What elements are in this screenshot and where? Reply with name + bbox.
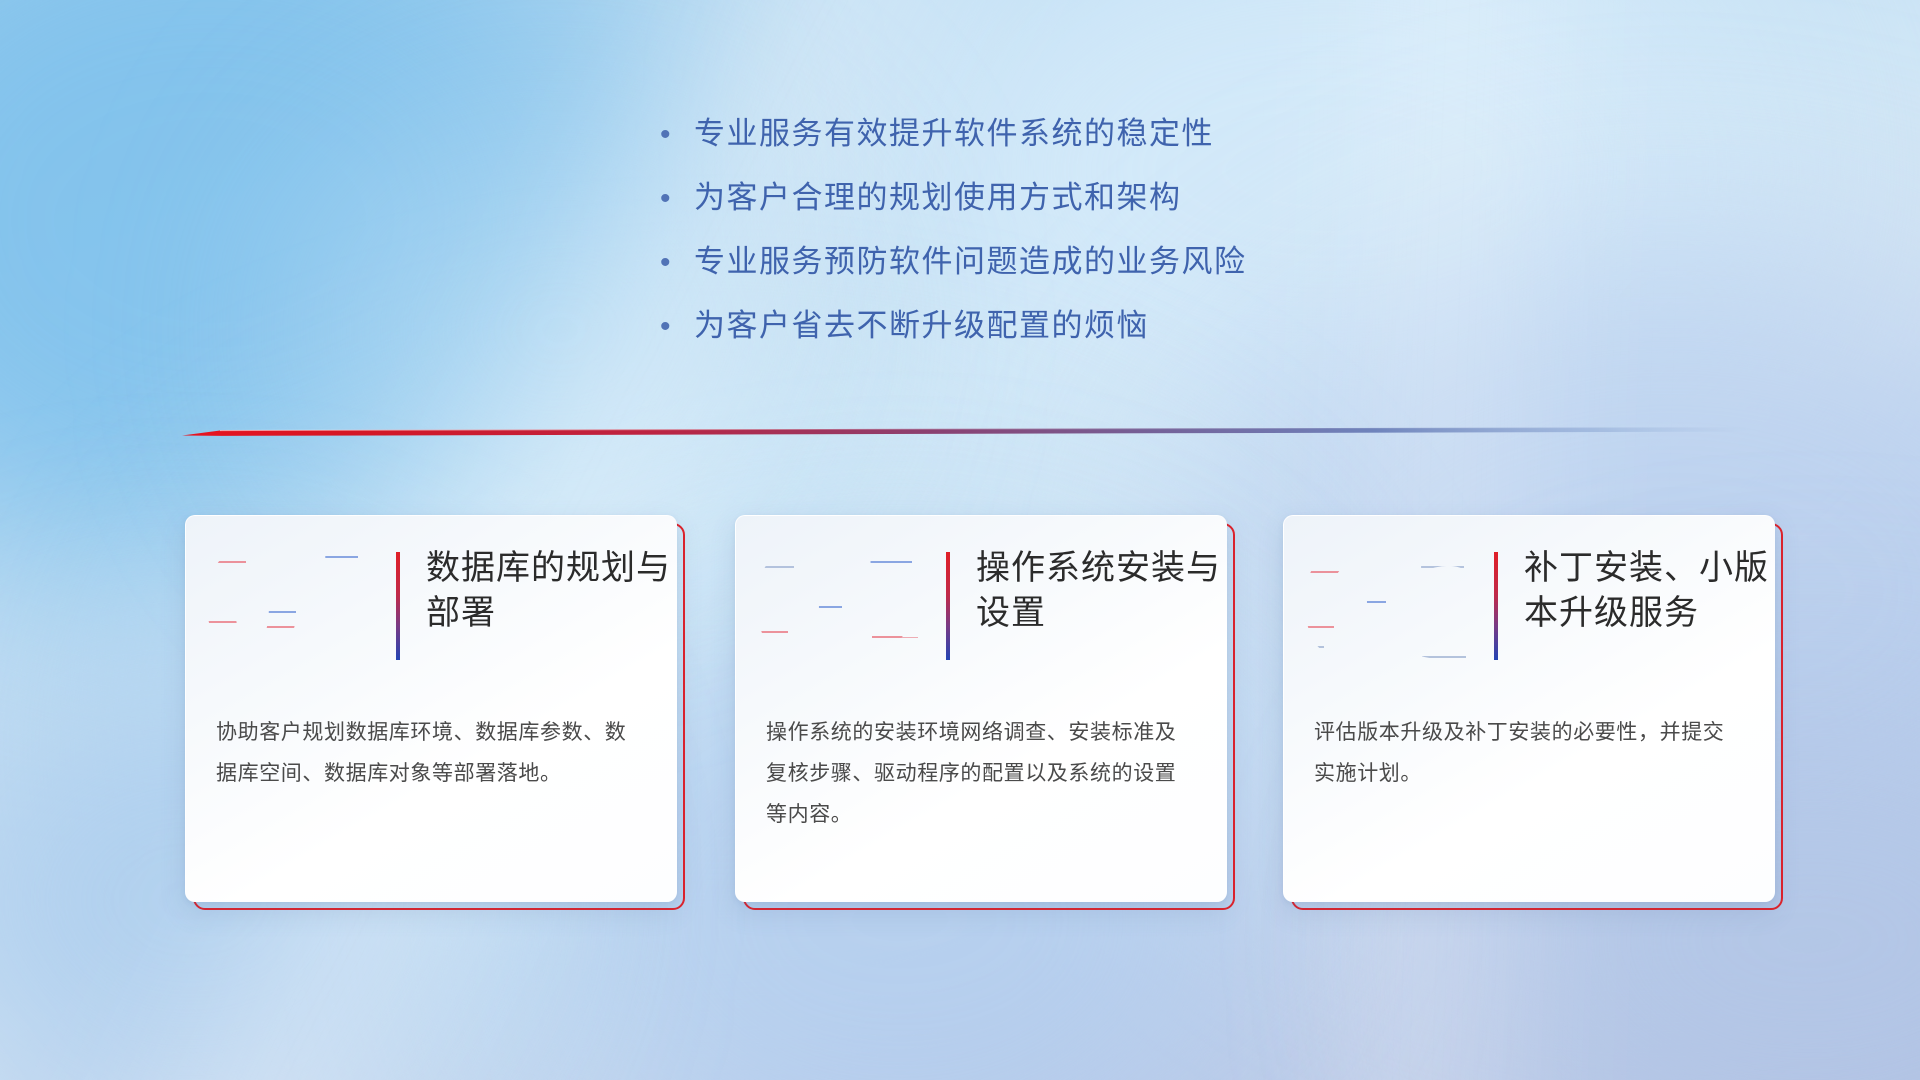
bullet-dot-icon: • xyxy=(660,312,694,342)
service-card[interactable]: 01 xyxy=(185,515,685,910)
list-item: • 专业服务预防软件问题造成的业务风险 xyxy=(660,236,1247,300)
card-surface: 01 xyxy=(185,515,677,902)
card-accent-rule xyxy=(396,552,400,660)
bullet-dot-icon: • xyxy=(660,120,694,150)
bullet-text: 专业服务有效提升软件系统的稳定性 xyxy=(694,108,1214,153)
service-card[interactable]: 03 xyxy=(1283,515,1783,910)
card-number-ghost-01: 01 xyxy=(200,538,410,688)
service-card-group: 01 xyxy=(0,515,1920,935)
service-card[interactable]: 02 xyxy=(735,515,1235,910)
section-divider xyxy=(182,424,1752,442)
card-title: 操作系统安装与设置 xyxy=(976,546,1226,636)
card-surface: 02 xyxy=(735,515,1227,902)
card-header: 数据库的规划与部署 xyxy=(396,546,676,660)
card-header: 补丁安装、小版本升级服务 xyxy=(1494,546,1774,660)
bullet-dot-icon: • xyxy=(660,248,694,278)
card-surface: 03 xyxy=(1283,515,1775,902)
list-item: • 为客户省去不断升级配置的烦恼 xyxy=(660,300,1247,364)
list-item: • 为客户合理的规划使用方式和架构 xyxy=(660,172,1247,236)
card-number-ghost-03: 03 xyxy=(1298,538,1508,688)
card-accent-rule xyxy=(946,552,950,660)
card-description: 评估版本升级及补丁安装的必要性，并提交实施计划。 xyxy=(1314,712,1744,794)
card-header: 操作系统安装与设置 xyxy=(946,546,1226,660)
bullet-text: 为客户合理的规划使用方式和架构 xyxy=(694,172,1182,217)
card-title: 补丁安装、小版本升级服务 xyxy=(1524,546,1774,636)
bullet-text: 为客户省去不断升级配置的烦恼 xyxy=(694,300,1149,345)
card-description: 操作系统的安装环境网络调查、安装标准及复核步骤、驱动程序的配置以及系统的设置等内… xyxy=(766,712,1196,835)
bullet-text: 专业服务预防软件问题造成的业务风险 xyxy=(694,236,1247,281)
card-description: 协助客户规划数据库环境、数据库参数、数据库空间、数据库对象等部署落地。 xyxy=(216,712,646,794)
bullet-dot-icon: • xyxy=(660,184,694,214)
card-title: 数据库的规划与部署 xyxy=(426,546,676,636)
list-item: • 专业服务有效提升软件系统的稳定性 xyxy=(660,108,1247,172)
benefit-bullet-list: • 专业服务有效提升软件系统的稳定性 • 为客户合理的规划使用方式和架构 • 专… xyxy=(660,108,1247,364)
card-accent-rule xyxy=(1494,552,1498,660)
card-number-ghost-02: 02 xyxy=(750,538,960,688)
